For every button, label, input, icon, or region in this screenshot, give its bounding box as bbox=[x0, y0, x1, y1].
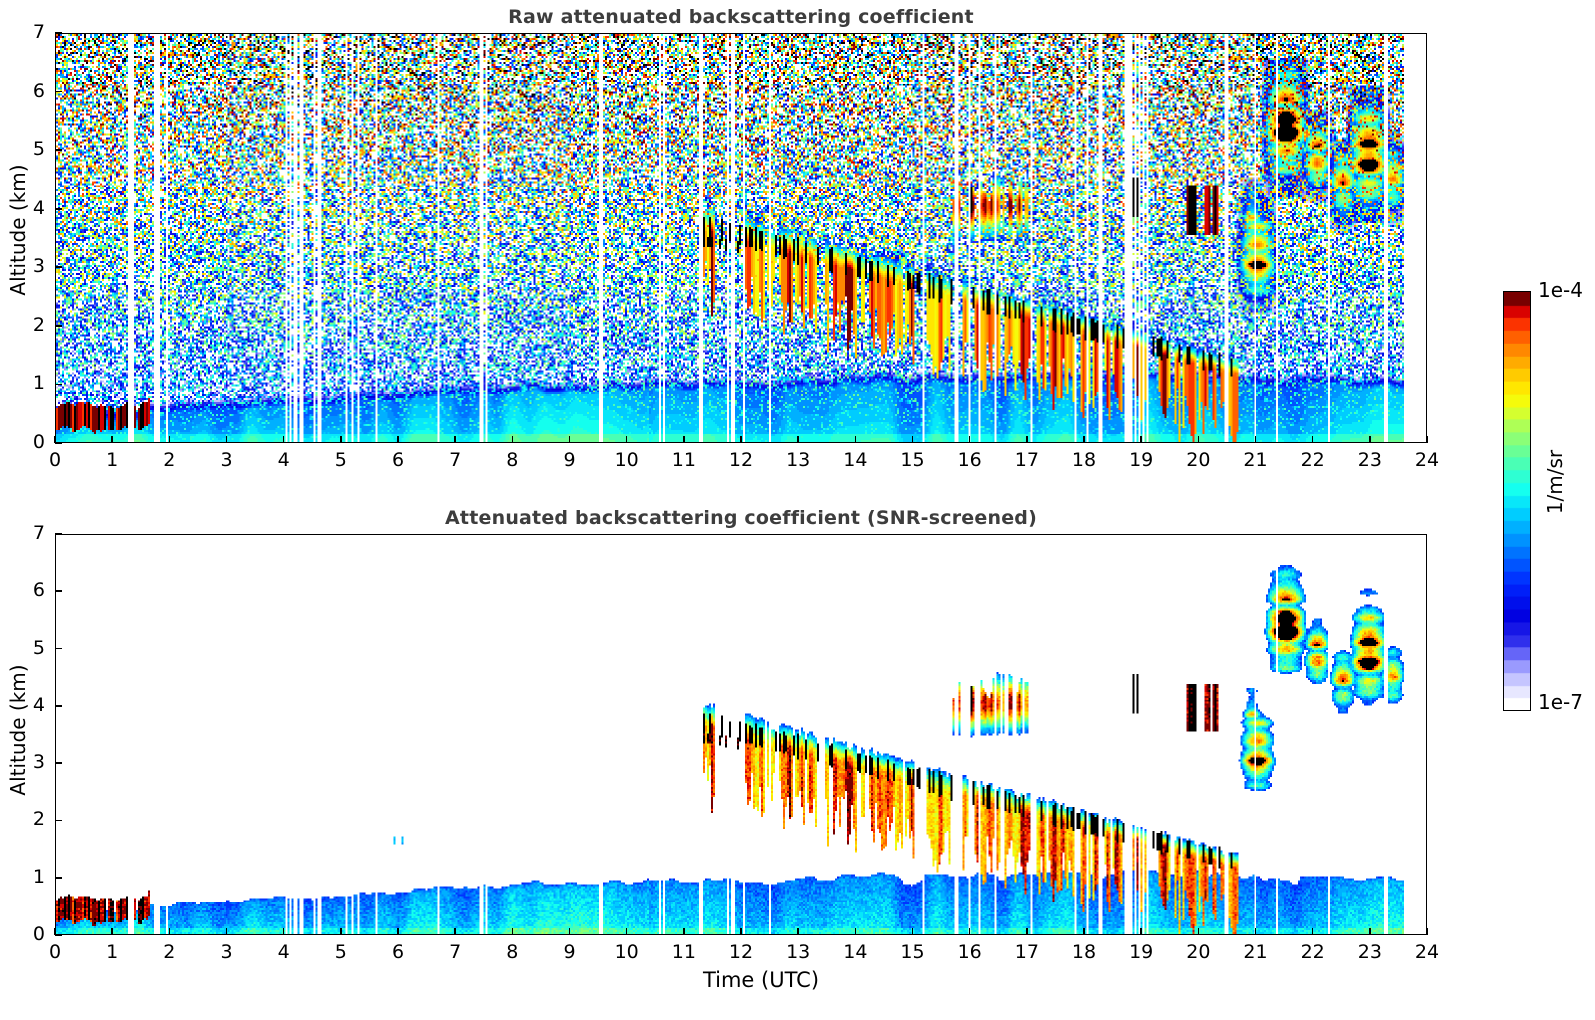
y-tick-label-top: 1 bbox=[11, 372, 45, 394]
x-tick-label-top: 17 bbox=[1007, 449, 1047, 471]
plot-screened-backscatter bbox=[55, 534, 1427, 935]
x-tick-bot bbox=[169, 928, 171, 935]
x-tick-label-top: 13 bbox=[778, 449, 818, 471]
x-axis-label: Time (UTC) bbox=[661, 968, 861, 992]
x-tick-label-top: 12 bbox=[721, 449, 761, 471]
y-tick-bot bbox=[55, 934, 62, 936]
x-tick-bot bbox=[1026, 928, 1028, 935]
y-tick-label-bot: 1 bbox=[11, 866, 45, 888]
y-tick-label-bot: 4 bbox=[11, 694, 45, 716]
y-tick-label-top: 7 bbox=[11, 21, 45, 43]
y-tick-label-bot: 3 bbox=[11, 751, 45, 773]
x-tick-label-bot: 23 bbox=[1350, 941, 1390, 963]
x-tick-label-bot: 16 bbox=[950, 941, 990, 963]
y-axis-label-bottom: Altitude (km) bbox=[6, 650, 30, 810]
x-tick-top bbox=[1198, 436, 1200, 443]
x-tick-label-bot: 12 bbox=[721, 941, 761, 963]
x-tick-bot bbox=[397, 928, 399, 935]
y-tick-bot bbox=[55, 590, 62, 592]
panel-title-screened: Attenuated backscattering coefficient (S… bbox=[55, 507, 1427, 529]
x-tick-top bbox=[169, 436, 171, 443]
x-tick-bot bbox=[512, 928, 514, 935]
y-tick-top bbox=[55, 149, 62, 151]
x-tick-label-bot: 6 bbox=[378, 941, 418, 963]
x-tick-bot bbox=[1198, 928, 1200, 935]
y-tick-top bbox=[55, 208, 62, 210]
x-tick-label-top: 11 bbox=[664, 449, 704, 471]
y-tick-label-bot: 6 bbox=[11, 579, 45, 601]
x-tick-bot bbox=[569, 928, 571, 935]
x-tick-label-bot: 24 bbox=[1407, 941, 1447, 963]
x-tick-label-bot: 5 bbox=[321, 941, 361, 963]
y-tick-top bbox=[55, 32, 62, 34]
y-tick-label-top: 2 bbox=[11, 314, 45, 336]
y-tick-label-top: 5 bbox=[11, 138, 45, 160]
plot-raw-backscatter bbox=[55, 33, 1427, 443]
x-tick-label-bot: 4 bbox=[264, 941, 304, 963]
x-tick-label-top: 1 bbox=[92, 449, 132, 471]
y-tick-bot bbox=[55, 877, 62, 879]
y-tick-label-top: 3 bbox=[11, 255, 45, 277]
x-tick-label-top: 8 bbox=[492, 449, 532, 471]
x-tick-label-top: 18 bbox=[1064, 449, 1104, 471]
x-tick-top bbox=[1312, 436, 1314, 443]
x-tick-label-bot: 19 bbox=[1121, 941, 1161, 963]
y-tick-bot bbox=[55, 533, 62, 535]
x-tick-label-top: 24 bbox=[1407, 449, 1447, 471]
x-tick-label-top: 7 bbox=[435, 449, 475, 471]
x-tick-top bbox=[626, 436, 628, 443]
x-tick-bot bbox=[1426, 928, 1428, 935]
x-tick-label-bot: 17 bbox=[1007, 941, 1047, 963]
x-tick-bot bbox=[454, 928, 456, 935]
x-tick-top bbox=[1026, 436, 1028, 443]
y-tick-label-top: 4 bbox=[11, 197, 45, 219]
colorbar-unit-label: 1/m/sr bbox=[1543, 427, 1567, 537]
x-tick-bot bbox=[1140, 928, 1142, 935]
x-tick-top bbox=[569, 436, 571, 443]
x-tick-bot bbox=[855, 928, 857, 935]
x-tick-label-bot: 20 bbox=[1178, 941, 1218, 963]
x-tick-top bbox=[340, 436, 342, 443]
y-tick-top bbox=[55, 325, 62, 327]
x-tick-top bbox=[1083, 436, 1085, 443]
colorbar-canvas bbox=[1504, 292, 1530, 710]
y-tick-top bbox=[55, 442, 62, 444]
x-tick-top bbox=[969, 436, 971, 443]
y-tick-bot bbox=[55, 762, 62, 764]
colorbar-min-label: 1e-7 bbox=[1538, 690, 1583, 714]
x-tick-label-top: 2 bbox=[149, 449, 189, 471]
y-tick-label-bot: 7 bbox=[11, 522, 45, 544]
x-tick-label-top: 23 bbox=[1350, 449, 1390, 471]
x-tick-label-bot: 11 bbox=[664, 941, 704, 963]
x-tick-top bbox=[1426, 436, 1428, 443]
y-tick-label-bot: 2 bbox=[11, 808, 45, 830]
x-tick-label-top: 22 bbox=[1293, 449, 1333, 471]
x-tick-label-top: 14 bbox=[835, 449, 875, 471]
x-tick-label-top: 21 bbox=[1236, 449, 1276, 471]
x-tick-label-bot: 1 bbox=[92, 941, 132, 963]
x-tick-bot bbox=[1255, 928, 1257, 935]
screened-heatmap-canvas bbox=[56, 535, 1426, 934]
x-tick-top bbox=[740, 436, 742, 443]
x-tick-label-top: 9 bbox=[550, 449, 590, 471]
raw-heatmap-canvas bbox=[56, 34, 1426, 442]
y-axis-label-top: Altitude (km) bbox=[6, 150, 30, 310]
x-tick-top bbox=[1369, 436, 1371, 443]
x-tick-bot bbox=[969, 928, 971, 935]
x-tick-label-top: 15 bbox=[893, 449, 933, 471]
x-tick-label-bot: 13 bbox=[778, 941, 818, 963]
x-tick-label-bot: 14 bbox=[835, 941, 875, 963]
panel-title-raw: Raw attenuated backscattering coefficien… bbox=[55, 6, 1427, 28]
x-tick-label-bot: 9 bbox=[550, 941, 590, 963]
y-tick-label-top: 0 bbox=[11, 431, 45, 453]
x-tick-bot bbox=[283, 928, 285, 935]
x-tick-top bbox=[226, 436, 228, 443]
x-tick-label-bot: 22 bbox=[1293, 941, 1333, 963]
y-tick-top bbox=[55, 266, 62, 268]
x-tick-top bbox=[1140, 436, 1142, 443]
x-tick-label-bot: 21 bbox=[1236, 941, 1276, 963]
x-tick-bot bbox=[1369, 928, 1371, 935]
x-tick-top bbox=[797, 436, 799, 443]
x-tick-bot bbox=[740, 928, 742, 935]
x-tick-top bbox=[1255, 436, 1257, 443]
x-tick-label-top: 10 bbox=[607, 449, 647, 471]
x-tick-bot bbox=[111, 928, 113, 935]
x-tick-bot bbox=[683, 928, 685, 935]
y-tick-top bbox=[55, 384, 62, 386]
colorbar-gradient bbox=[1503, 291, 1531, 711]
x-tick-top bbox=[397, 436, 399, 443]
x-tick-bot bbox=[1083, 928, 1085, 935]
x-tick-label-bot: 8 bbox=[492, 941, 532, 963]
y-tick-label-bot: 0 bbox=[11, 923, 45, 945]
x-tick-label-bot: 15 bbox=[893, 941, 933, 963]
x-tick-label-top: 20 bbox=[1178, 449, 1218, 471]
y-tick-top bbox=[55, 91, 62, 93]
x-tick-top bbox=[912, 436, 914, 443]
colorbar bbox=[1503, 291, 1531, 711]
x-tick-bot bbox=[1312, 928, 1314, 935]
x-tick-label-bot: 2 bbox=[149, 941, 189, 963]
x-tick-top bbox=[683, 436, 685, 443]
x-tick-label-bot: 18 bbox=[1064, 941, 1104, 963]
colorbar-max-label: 1e-4 bbox=[1538, 278, 1583, 302]
x-tick-bot bbox=[226, 928, 228, 935]
x-tick-top bbox=[283, 436, 285, 443]
y-tick-label-bot: 5 bbox=[11, 637, 45, 659]
x-tick-label-top: 3 bbox=[207, 449, 247, 471]
x-tick-top bbox=[855, 436, 857, 443]
x-tick-label-bot: 7 bbox=[435, 941, 475, 963]
x-tick-label-top: 5 bbox=[321, 449, 361, 471]
x-tick-bot bbox=[626, 928, 628, 935]
x-tick-bot bbox=[912, 928, 914, 935]
x-tick-label-top: 19 bbox=[1121, 449, 1161, 471]
x-tick-top bbox=[454, 436, 456, 443]
x-tick-top bbox=[111, 436, 113, 443]
y-tick-bot bbox=[55, 705, 62, 707]
x-tick-bot bbox=[797, 928, 799, 935]
x-tick-label-bot: 3 bbox=[207, 941, 247, 963]
x-tick-label-top: 6 bbox=[378, 449, 418, 471]
y-tick-label-top: 6 bbox=[11, 80, 45, 102]
x-tick-label-top: 4 bbox=[264, 449, 304, 471]
y-tick-bot bbox=[55, 820, 62, 822]
x-tick-bot bbox=[340, 928, 342, 935]
x-tick-label-top: 16 bbox=[950, 449, 990, 471]
y-tick-bot bbox=[55, 648, 62, 650]
x-tick-label-bot: 10 bbox=[607, 941, 647, 963]
x-tick-top bbox=[512, 436, 514, 443]
